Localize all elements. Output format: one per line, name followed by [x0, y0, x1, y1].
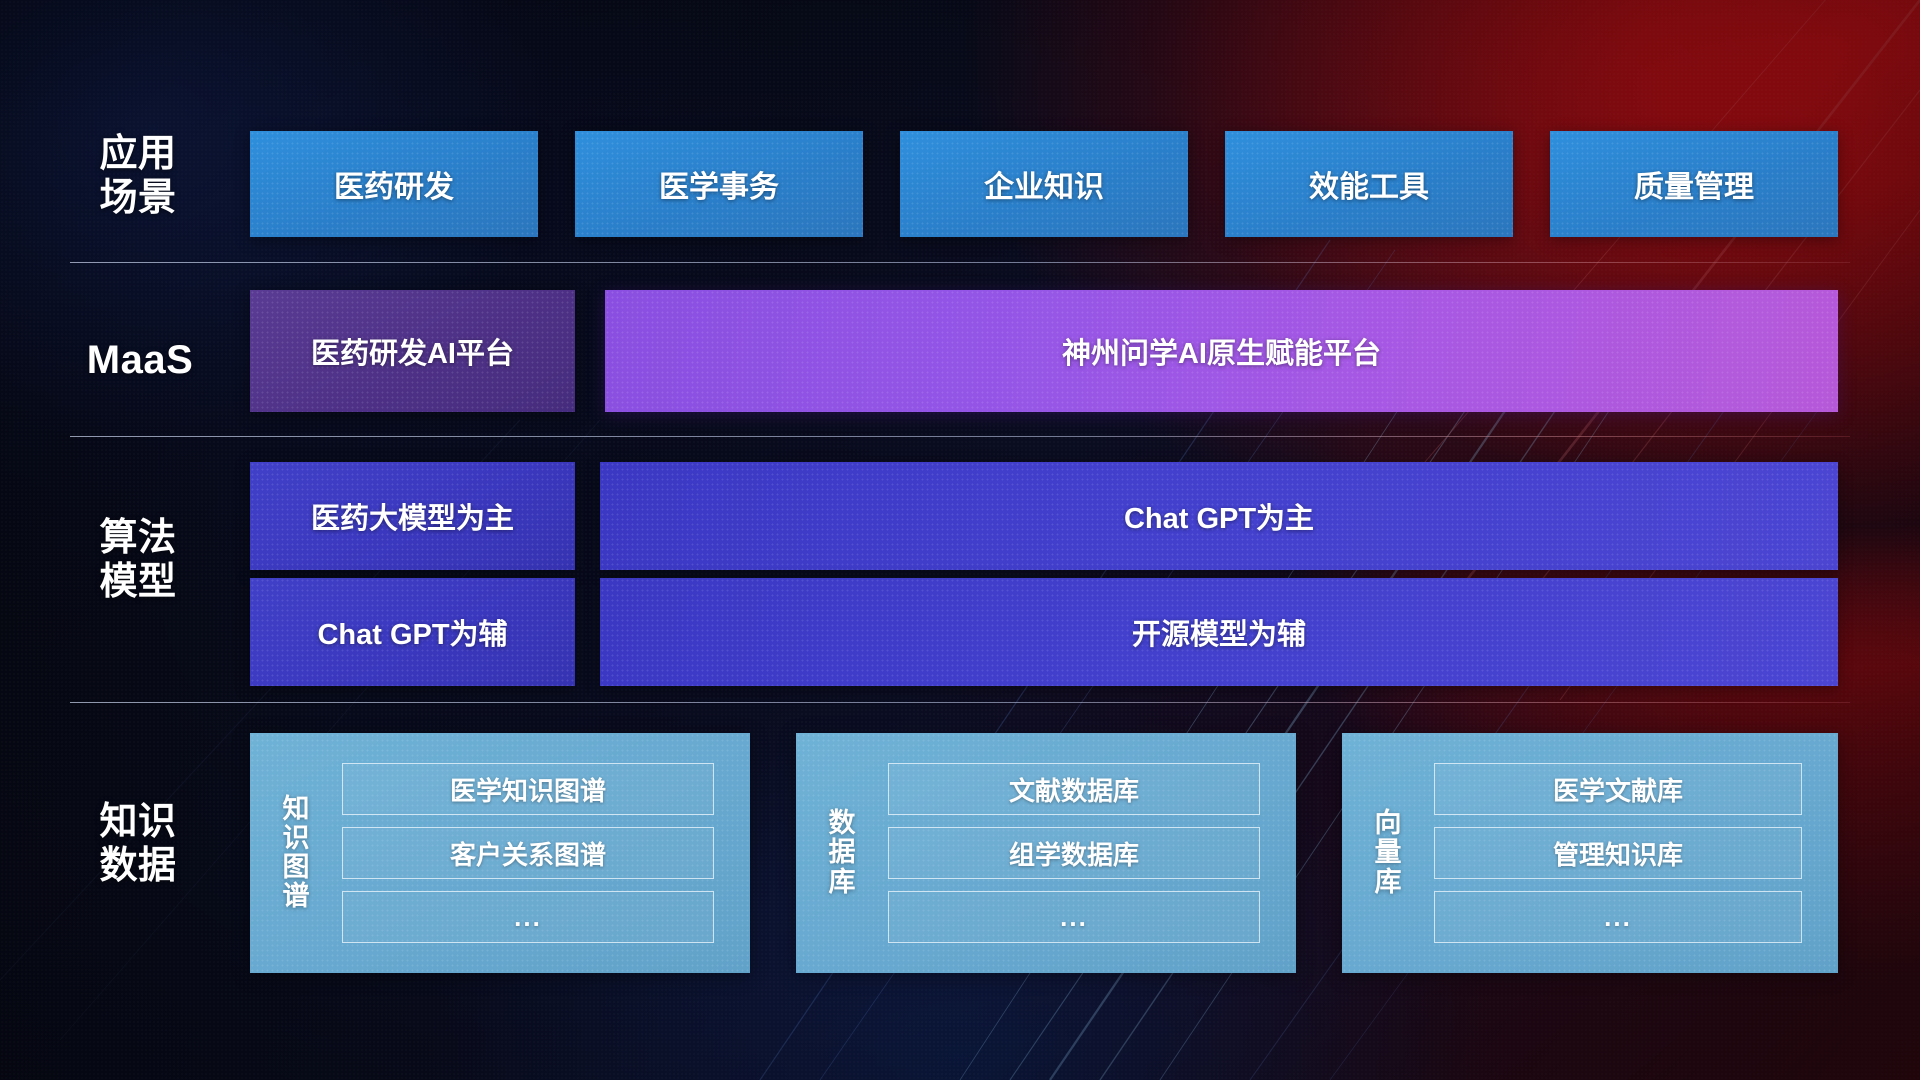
- knowledge-group-graph-items: 医学知识图谱 客户关系图谱 ...: [342, 763, 714, 943]
- knowledge-group-database-title: 数 据 库: [796, 809, 888, 896]
- maas-box-pharma-platform[interactable]: 医药研发AI平台: [250, 290, 575, 412]
- knowledge-item-vector-3[interactable]: ...: [1434, 891, 1802, 943]
- knowledge-item-graph-1-label: 医学知识图谱: [450, 771, 606, 808]
- algo-box-chatgpt-secondary-label: Chat GPT为辅: [317, 611, 507, 653]
- knowledge-item-database-1-label: 文献数据库: [1009, 771, 1139, 808]
- row-label-algorithm: 算法 模型: [78, 516, 198, 604]
- app-box-2[interactable]: 医学事务: [575, 131, 863, 237]
- knowledge-group-database[interactable]: 数 据 库 文献数据库 组学数据库 ...: [796, 733, 1296, 973]
- knowledge-group-vector-items: 医学文献库 管理知识库 ...: [1434, 763, 1802, 943]
- algo-box-opensource-secondary-label: 开源模型为辅: [1132, 611, 1306, 653]
- knowledge-group-vector-title: 向 量 库: [1342, 809, 1434, 896]
- algo-box-opensource-secondary[interactable]: 开源模型为辅: [600, 578, 1838, 686]
- app-box-5-label: 质量管理: [1634, 162, 1754, 206]
- app-box-4[interactable]: 效能工具: [1225, 131, 1513, 237]
- divider-maas-algorithm: [70, 436, 1850, 437]
- app-box-2-label: 医学事务: [659, 162, 779, 206]
- algo-box-pharma-primary-label: 医药大模型为主: [311, 495, 514, 537]
- knowledge-item-vector-3-label: ...: [1604, 902, 1632, 933]
- knowledge-item-graph-3[interactable]: ...: [342, 891, 714, 943]
- algo-box-pharma-primary[interactable]: 医药大模型为主: [250, 462, 575, 570]
- knowledge-item-graph-2[interactable]: 客户关系图谱: [342, 827, 714, 879]
- row-label-knowledge: 知识 数据: [78, 800, 198, 888]
- row-label-maas: MaaS: [70, 337, 210, 383]
- app-box-3[interactable]: 企业知识: [900, 131, 1188, 237]
- app-box-3-label: 企业知识: [984, 162, 1104, 206]
- app-box-1-label: 医药研发: [334, 162, 454, 206]
- knowledge-item-database-3-label: ...: [1060, 902, 1088, 933]
- knowledge-item-vector-2[interactable]: 管理知识库: [1434, 827, 1802, 879]
- knowledge-item-vector-2-label: 管理知识库: [1553, 835, 1683, 872]
- knowledge-item-database-2-label: 组学数据库: [1009, 835, 1139, 872]
- maas-box-shenzhou-platform[interactable]: 神州问学AI原生赋能平台: [605, 290, 1838, 412]
- knowledge-item-vector-1[interactable]: 医学文献库: [1434, 763, 1802, 815]
- divider-algorithm-knowledge: [70, 702, 1850, 703]
- architecture-diagram: 应用 场景 医药研发 医学事务 企业知识 效能工具 质量管理 MaaS 医药研发…: [0, 0, 1920, 1080]
- knowledge-group-vector[interactable]: 向 量 库 医学文献库 管理知识库 ...: [1342, 733, 1838, 973]
- knowledge-item-database-1[interactable]: 文献数据库: [888, 763, 1260, 815]
- app-box-4-label: 效能工具: [1309, 162, 1429, 206]
- knowledge-item-graph-3-label: ...: [514, 902, 542, 933]
- algo-box-chatgpt-primary-label: Chat GPT为主: [1124, 495, 1314, 537]
- row-label-application: 应用 场景: [78, 132, 198, 220]
- knowledge-group-graph-title: 知 识 图 谱: [250, 795, 342, 912]
- divider-application-maas: [70, 262, 1850, 263]
- knowledge-item-vector-1-label: 医学文献库: [1553, 771, 1683, 808]
- knowledge-item-database-3[interactable]: ...: [888, 891, 1260, 943]
- app-box-5[interactable]: 质量管理: [1550, 131, 1838, 237]
- algo-box-chatgpt-secondary[interactable]: Chat GPT为辅: [250, 578, 575, 686]
- knowledge-item-database-2[interactable]: 组学数据库: [888, 827, 1260, 879]
- algo-box-chatgpt-primary[interactable]: Chat GPT为主: [600, 462, 1838, 570]
- knowledge-item-graph-1[interactable]: 医学知识图谱: [342, 763, 714, 815]
- knowledge-item-graph-2-label: 客户关系图谱: [450, 835, 606, 872]
- knowledge-group-database-items: 文献数据库 组学数据库 ...: [888, 763, 1260, 943]
- app-box-1[interactable]: 医药研发: [250, 131, 538, 237]
- maas-box-pharma-platform-label: 医药研发AI平台: [311, 330, 514, 372]
- knowledge-group-graph[interactable]: 知 识 图 谱 医学知识图谱 客户关系图谱 ...: [250, 733, 750, 973]
- maas-box-shenzhou-platform-label: 神州问学AI原生赋能平台: [1062, 330, 1381, 372]
